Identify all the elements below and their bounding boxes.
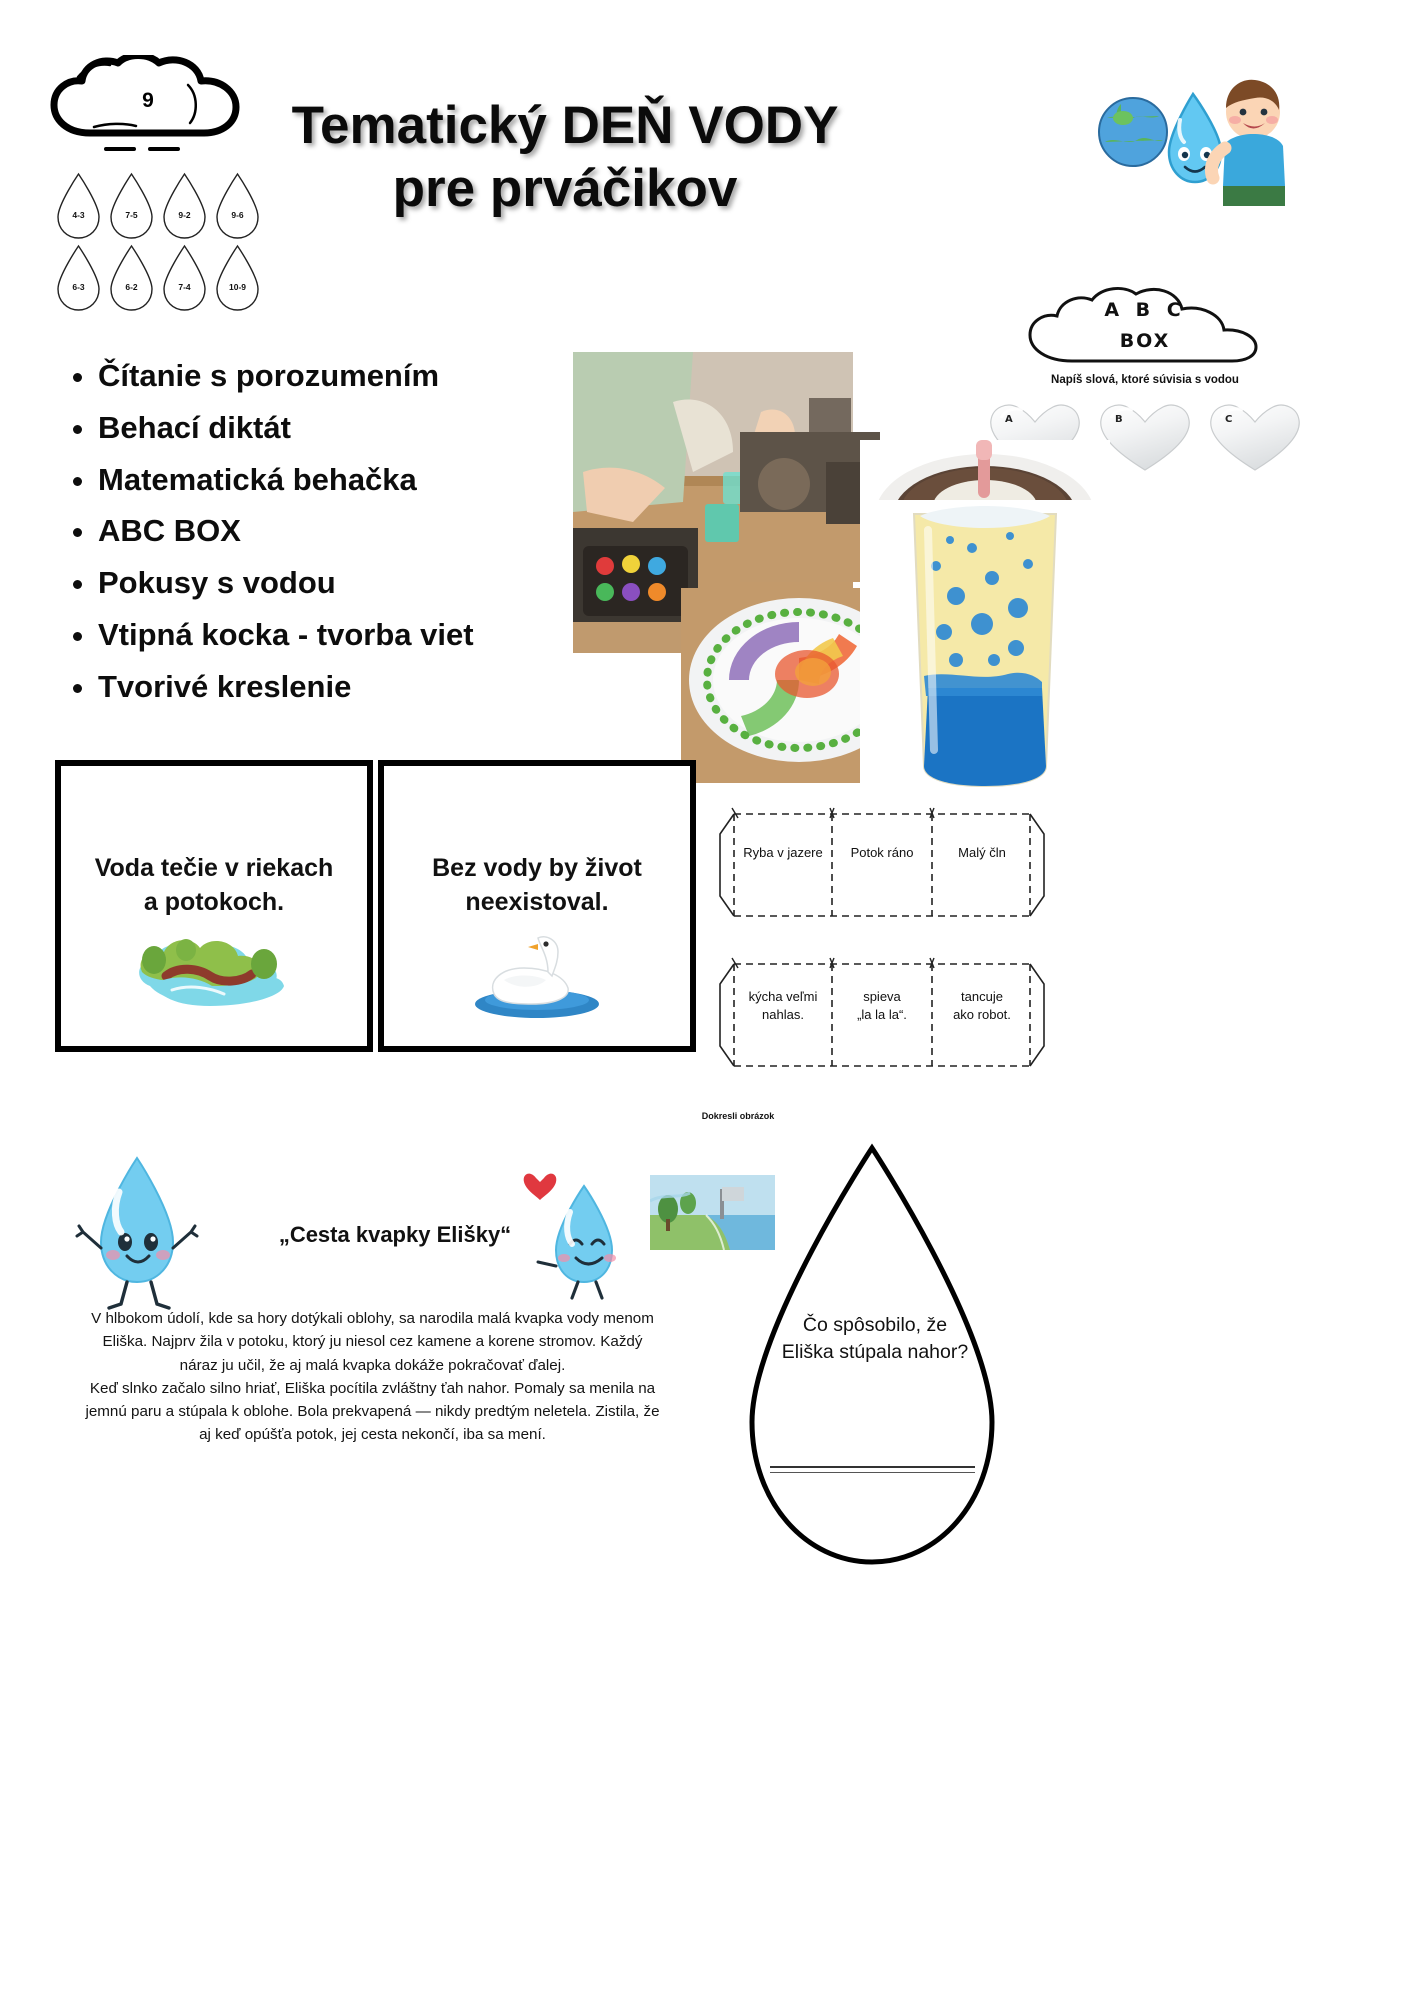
- raindrop-outline-icon: [52, 170, 105, 242]
- raindrop[interactable]: 7-5: [105, 170, 158, 242]
- story-paragraph-2: Keď slnko začalo silno hriať, Eliška poc…: [85, 1377, 660, 1447]
- river-illustration: [61, 928, 367, 1014]
- raindrop[interactable]: 4-3: [52, 170, 105, 242]
- cloud-shape: 9: [48, 55, 248, 145]
- story-title: „Cesta kvapky Elišky“: [180, 1222, 610, 1248]
- raindrop-label: 7-4: [178, 282, 190, 292]
- raindrop-outline-icon: [211, 242, 264, 314]
- cube-face-line-2: „la la la“.: [838, 1006, 926, 1024]
- abc-box-caption: Napíš slová, ktoré súvisia s vodou: [985, 374, 1305, 386]
- list-item: ABC BOX: [98, 505, 624, 557]
- cube-face-text: Potok ráno: [838, 844, 926, 862]
- abc-heart-letter: B: [1115, 414, 1123, 425]
- answer-line-secondary[interactable]: [770, 1472, 975, 1473]
- sentence-card-text: Bez vody by život neexistoval.: [384, 852, 690, 920]
- list-item: Vtipná kocka - tvorba viet: [98, 609, 624, 661]
- cloud-number: 9: [48, 89, 248, 113]
- sentence-card-river: Voda tečie v riekach a potokoch.: [55, 760, 373, 1052]
- story-paragraph-1: V hlbokom údolí, kde sa hory dotýkali ob…: [85, 1307, 660, 1377]
- cube-face-line-2: nahlas.: [739, 1006, 827, 1024]
- boy-with-globe-illustration: [1085, 60, 1295, 210]
- abc-heart-letter: A: [1005, 414, 1013, 425]
- list-item: Pokusy s vodou: [98, 557, 624, 609]
- abc-box-word: BOX: [1020, 330, 1270, 352]
- cube-face-text: tancuje ako robot.: [938, 988, 1026, 1024]
- question-line-2: Eliška stúpala nahor?: [760, 1339, 990, 1366]
- sentence-line-2: neexistoval.: [394, 886, 680, 920]
- sentence-line-1: Bez vody by život: [394, 852, 680, 886]
- heart-icon: [1205, 398, 1305, 474]
- abc-box-cloud: A B C BOX: [1020, 285, 1270, 370]
- cube-face-text: spieva „la la la“.: [838, 988, 926, 1024]
- raindrop[interactable]: 7-4: [158, 242, 211, 314]
- river-landscape-icon: [114, 928, 314, 1014]
- raindrop-outline-icon: [52, 242, 105, 314]
- raindrop-outline-icon: [158, 242, 211, 314]
- heart-icon: [1095, 398, 1195, 474]
- photo-content: [573, 528, 698, 653]
- raindrop-label: 9-6: [231, 210, 243, 220]
- cube-net-verbs: kýcha veľmi nahlas. spieva „la la la“. t…: [712, 950, 1052, 1080]
- raindrop-row-1: 4-3 7-5 9-2 9-6: [52, 170, 267, 242]
- raindrop-label: 6-3: [72, 282, 84, 292]
- raindrop-grid: 4-3 7-5 9-2 9-6 6-3: [52, 170, 267, 314]
- swan-illustration: [384, 928, 690, 1020]
- cube-face-line-1: kýcha veľmi: [739, 988, 827, 1006]
- page-title-line1: Tematický DEŇ VODY: [250, 95, 880, 158]
- sentence-card-text: Voda tečie v riekach a potokoch.: [61, 852, 367, 920]
- list-item: Behací diktát: [98, 402, 624, 454]
- page-title-line2: pre prváčikov: [250, 158, 880, 221]
- list-item: Tvorivé kreslenie: [98, 661, 624, 713]
- cube-face-text: Malý čln: [938, 844, 1026, 862]
- cube-net-outline: [712, 800, 1052, 930]
- photo-table-detail: [740, 432, 880, 582]
- cube-face-line-2: ako robot.: [938, 1006, 1026, 1024]
- story-text: V hlbokom údolí, kde sa hory dotýkali ob…: [85, 1307, 660, 1447]
- abc-heart-letter: C: [1225, 414, 1232, 425]
- dokresli-caption: Dokresli obrázok: [678, 1111, 798, 1121]
- raindrop-label: 10-9: [229, 282, 246, 292]
- boy-globe-waterdrop-icon: [1085, 60, 1295, 210]
- list-item: Čítanie s porozumením: [98, 350, 624, 402]
- photo-lava-lamp-glass: [860, 500, 1110, 790]
- raindrop-outline-icon: [105, 242, 158, 314]
- math-cloud: 9: [48, 55, 248, 145]
- abc-heart-slot[interactable]: B: [1095, 398, 1195, 474]
- cube-face-line-1: tancuje: [938, 988, 1026, 1006]
- abc-heart-slot[interactable]: C: [1205, 398, 1305, 474]
- cube-face-line-1: spieva: [838, 988, 926, 1006]
- photo-content: [740, 432, 880, 582]
- raindrop-row-2: 6-3 6-2 7-4 10-9: [52, 242, 267, 314]
- raindrop-label: 7-5: [125, 210, 137, 220]
- activity-list-items: Čítanie s porozumením Behací diktát Mate…: [64, 350, 624, 712]
- sentence-line-1: Voda tečie v riekach: [71, 852, 357, 886]
- raindrop-outline-icon: [105, 170, 158, 242]
- abc-letters: A B C: [1020, 299, 1270, 321]
- raindrop-label: 6-2: [125, 282, 137, 292]
- list-item: Matematická behačka: [98, 454, 624, 506]
- answer-line[interactable]: [770, 1466, 975, 1468]
- raindrop[interactable]: 6-2: [105, 242, 158, 314]
- photo-paint-palette: [573, 528, 698, 653]
- activity-list: Čítanie s porozumením Behací diktát Mate…: [64, 350, 624, 712]
- question-line-1: Čo spôsobilo, že: [760, 1312, 990, 1339]
- sentence-line-2: a potokoch.: [71, 886, 357, 920]
- raindrop[interactable]: 10-9: [211, 242, 264, 314]
- raindrop-label: 9-2: [178, 210, 190, 220]
- raindrop[interactable]: 9-2: [158, 170, 211, 242]
- question-text: Čo spôsobilo, že Eliška stúpala nahor?: [760, 1312, 990, 1367]
- raindrop-outline-icon: [158, 170, 211, 242]
- cube-face-text: Ryba v jazere: [739, 844, 827, 862]
- raindrop-label: 4-3: [72, 210, 84, 220]
- photo-content: [860, 500, 1110, 790]
- cloud-outline-icon: [1020, 285, 1270, 370]
- swan-icon: [442, 928, 632, 1020]
- raindrop[interactable]: 6-3: [52, 242, 105, 314]
- cube-face-text: kýcha veľmi nahlas.: [739, 988, 827, 1024]
- page-title: Tematický DEŇ VODY pre prváčikov: [250, 95, 880, 220]
- cube-net-nouns: Ryba v jazere Potok ráno Malý čln: [712, 800, 1052, 930]
- cloud-drip-lines-icon: [48, 139, 248, 161]
- sentence-card-life: Bez vody by život neexistoval.: [378, 760, 696, 1052]
